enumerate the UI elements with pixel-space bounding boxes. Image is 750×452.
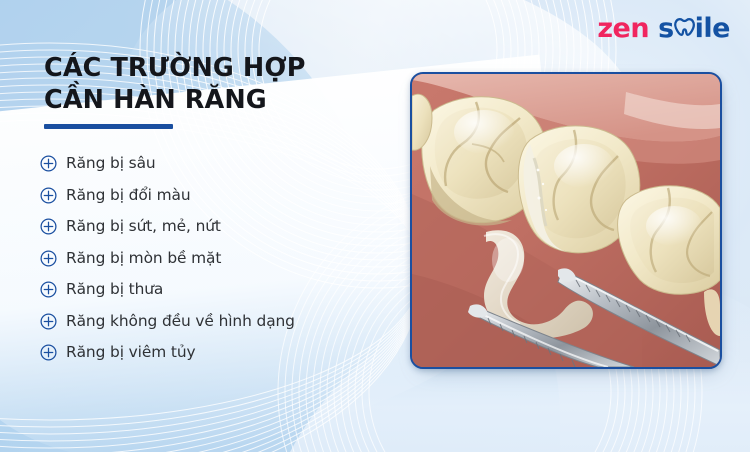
page-title-line-2: CẦN HÀN RĂNG: [44, 84, 394, 116]
brand-name-zen: zen: [597, 13, 649, 44]
list-item-label: Răng bị mòn bề mặt: [66, 251, 221, 266]
banner-canvas: zen s ile CÁC TRƯỜNG HỢP CẦN HÀN RĂNG Ră…: [0, 0, 750, 452]
plus-circle-icon: [40, 281, 57, 298]
list-item: Răng bị mòn bề mặt: [40, 243, 400, 275]
list-item-label: Răng không đều về hình dạng: [66, 314, 295, 329]
list-item: Răng bị viêm tủy: [40, 337, 400, 369]
brand-name-smile-prefix: s: [658, 13, 674, 44]
list-item: Răng bị sứt, mẻ, nứt: [40, 211, 400, 243]
plus-circle-icon: [40, 218, 57, 235]
tooth-icon: [674, 15, 695, 42]
brand-logo[interactable]: zen s ile: [597, 12, 730, 44]
page-title: CÁC TRƯỜNG HỢP CẦN HÀN RĂNG: [44, 52, 394, 116]
plus-circle-icon: [40, 155, 57, 172]
plus-circle-icon: [40, 187, 57, 204]
conditions-list: Răng bị sâu Răng bị đổi màu Răng bị sứt,…: [40, 148, 400, 369]
list-item-label: Răng bị viêm tủy: [66, 345, 196, 360]
plus-circle-icon: [40, 250, 57, 267]
dental-filling-procedure-photo: [410, 72, 722, 369]
list-item-label: Răng bị sứt, mẻ, nứt: [66, 219, 221, 234]
list-item-label: Răng bị thưa: [66, 282, 163, 297]
list-item-label: Răng bị sâu: [66, 156, 156, 171]
title-divider: [44, 124, 173, 129]
list-item: Răng bị đổi màu: [40, 180, 400, 212]
brand-name-smile-suffix: ile: [695, 13, 730, 44]
page-title-line-1: CÁC TRƯỜNG HỢP: [44, 53, 306, 83]
plus-circle-icon: [40, 313, 57, 330]
list-item-label: Răng bị đổi màu: [66, 188, 191, 203]
list-item: Răng bị thưa: [40, 274, 400, 306]
list-item: Răng không đều về hình dạng: [40, 306, 400, 338]
plus-circle-icon: [40, 344, 57, 361]
list-item: Răng bị sâu: [40, 148, 400, 180]
